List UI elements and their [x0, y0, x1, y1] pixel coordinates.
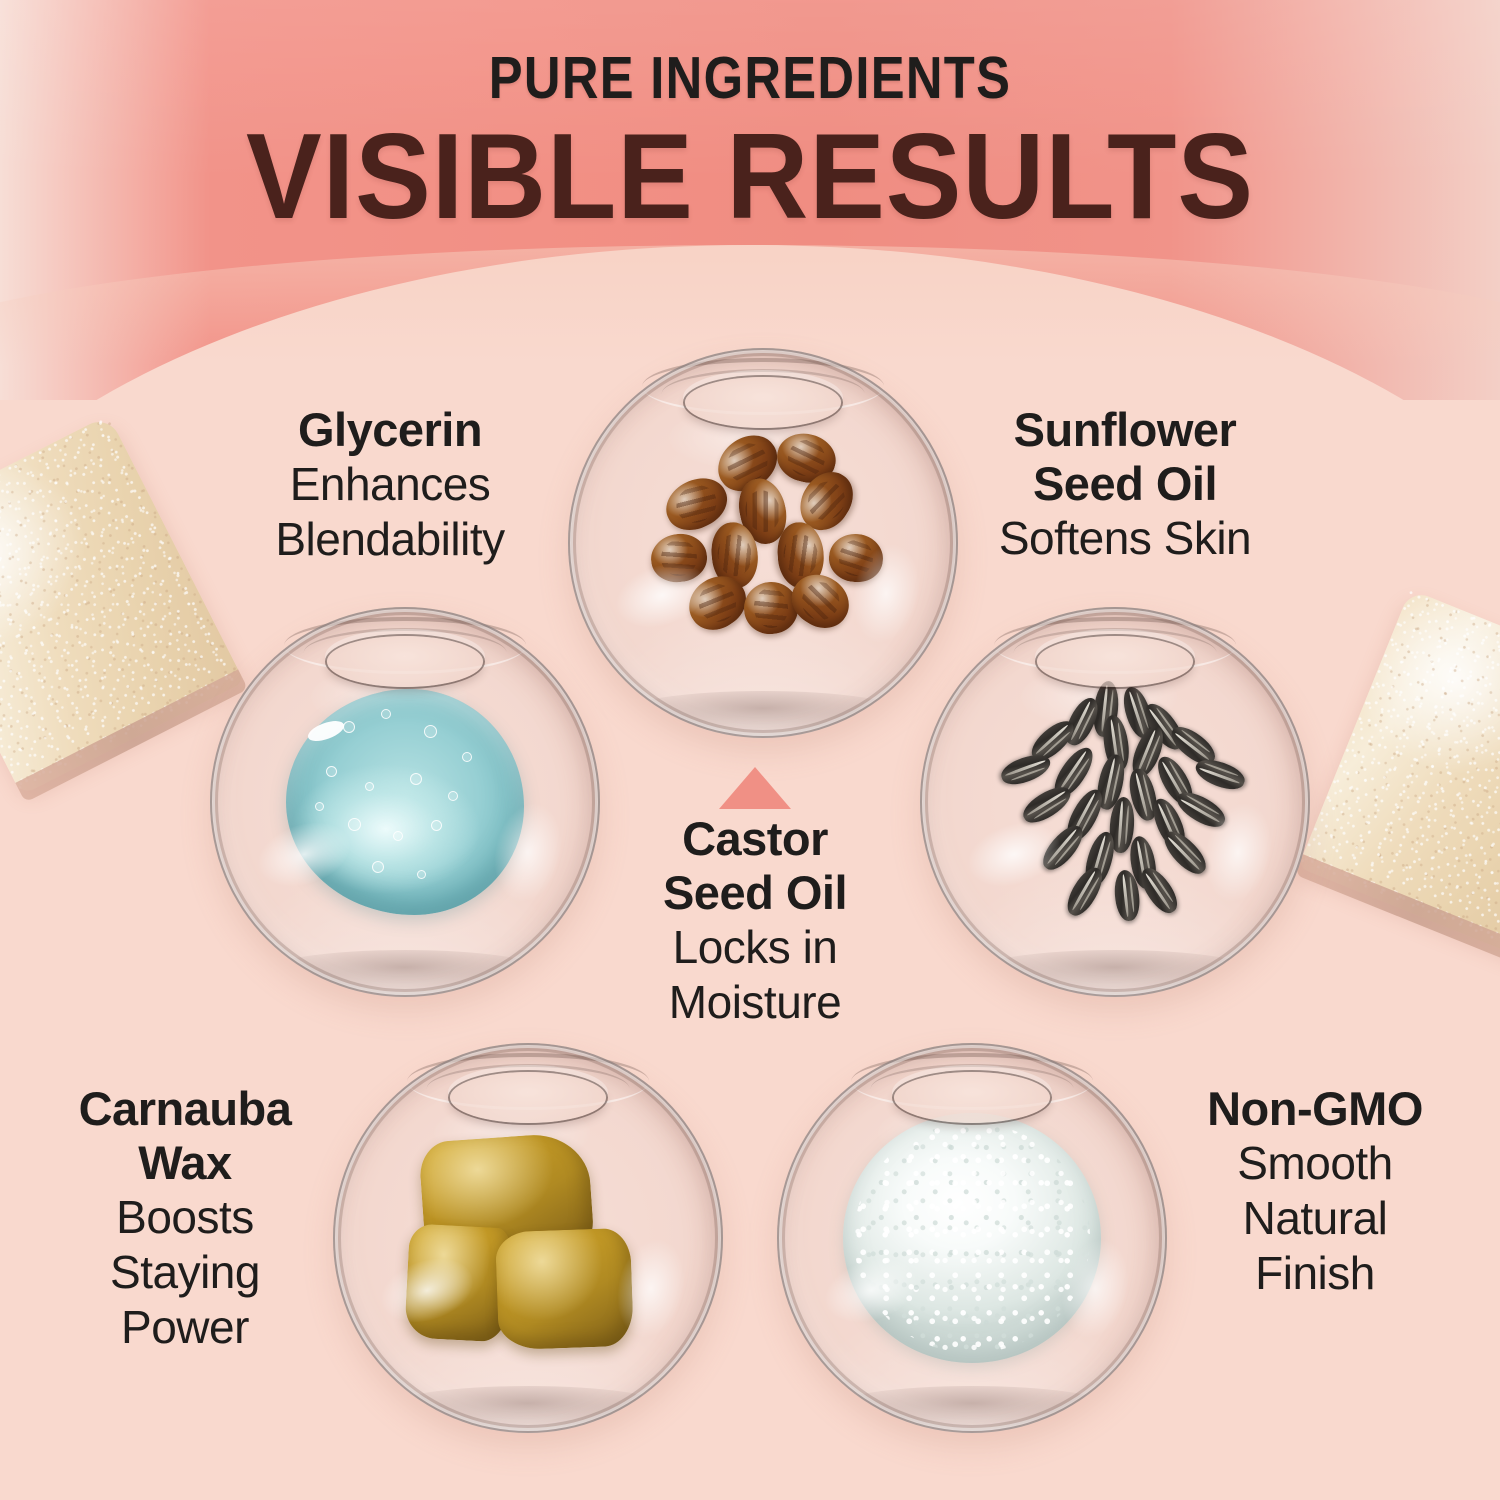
ingredient-desc-line: Enhances — [195, 457, 585, 512]
ingredient-name-line: Castor — [590, 812, 920, 866]
ingredient-label-sunflower-seed-oil: Sunflower Seed Oil Softens Skin — [930, 403, 1320, 566]
ingredient-desc-line: Power — [25, 1300, 345, 1355]
ingredient-desc-line: Boosts — [25, 1190, 345, 1245]
white-powder-mound — [843, 1113, 1100, 1363]
ingredients-infographic: PURE INGREDIENTS VISIBLE RESULTS — [0, 0, 1500, 1500]
header-block: PURE INGREDIENTS VISIBLE RESULTS — [0, 0, 1500, 237]
ingredient-label-non-gmo: Non-GMO Smooth Natural Finish — [1150, 1082, 1480, 1301]
glass-base-shadow — [388, 1386, 669, 1429]
ingredient-desc-line: Staying — [25, 1245, 345, 1300]
glass-neck-opening — [685, 377, 841, 428]
glass-neck-opening — [1037, 636, 1193, 687]
ingredient-sphere-non-gmo — [777, 1043, 1167, 1433]
gel-shine — [306, 717, 347, 745]
ingredient-desc-line: Finish — [1150, 1246, 1480, 1301]
ingredient-name-line: Non-GMO — [1150, 1082, 1480, 1136]
ingredient-sphere-castor-seed-oil — [568, 348, 958, 738]
ingredient-name-line: Wax — [25, 1136, 345, 1190]
glass-neck-opening — [894, 1072, 1050, 1123]
sunflower-seed-pile — [982, 681, 1247, 923]
wax-chunk — [495, 1228, 634, 1350]
ingredient-name-line: Sunflower — [930, 403, 1320, 457]
ingredient-desc-line: Softens Skin — [930, 511, 1320, 566]
ingredient-label-castor-seed-oil: Castor Seed Oil Locks in Moisture — [590, 812, 920, 1030]
glass-base-shadow — [975, 950, 1256, 993]
glass-neck-opening — [327, 636, 483, 687]
ingredient-sphere-sunflower-seed-oil — [920, 607, 1310, 997]
ingredient-label-carnauba-wax: Carnauba Wax Boosts Staying Power — [25, 1082, 345, 1355]
ingredient-label-glycerin: Glycerin Enhances Blendability — [195, 403, 585, 567]
page-title: VISIBLE RESULTS — [53, 115, 1448, 237]
ingredient-desc-line: Locks in — [590, 920, 920, 975]
ingredient-desc-line: Moisture — [590, 975, 920, 1030]
ingredient-sphere-glycerin — [210, 607, 600, 997]
ingredient-name-line: Carnauba — [25, 1082, 345, 1136]
castor-arrow-icon — [719, 767, 791, 809]
ingredient-desc-line: Natural — [1150, 1191, 1480, 1246]
ingredient-desc-line: Blendability — [195, 512, 585, 567]
ingredient-desc-line: Smooth — [1150, 1136, 1480, 1191]
ingredient-name-line: Seed Oil — [930, 457, 1320, 511]
glass-base-shadow — [623, 691, 904, 734]
ingredient-sphere-carnauba-wax — [333, 1043, 723, 1433]
ingredient-name: Glycerin — [195, 403, 585, 457]
glycerin-gel-blob — [286, 689, 524, 915]
glass-base-shadow — [832, 1386, 1113, 1429]
glass-base-shadow — [265, 950, 546, 993]
glass-neck-opening — [450, 1072, 606, 1123]
ingredient-name-line: Seed Oil — [590, 866, 920, 920]
kicker-text: PURE INGREDIENTS — [105, 47, 1395, 109]
